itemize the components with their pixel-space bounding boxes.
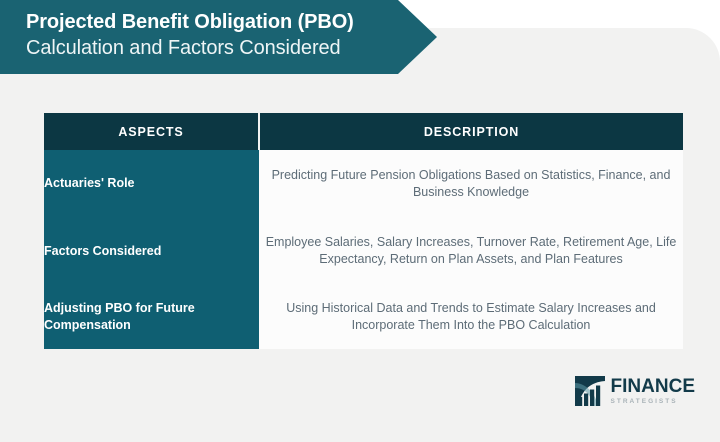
logo-text-block: FINANCE STRATEGISTS bbox=[611, 377, 695, 406]
title-line-1: Projected Benefit Obligation (PBO) bbox=[26, 9, 437, 35]
pbo-table: ASPECTS DESCRIPTION Actuaries' Role Pred… bbox=[44, 113, 683, 349]
infographic-canvas: Projected Benefit Obligation (PBO) Calcu… bbox=[0, 0, 720, 442]
column-header-description: DESCRIPTION bbox=[259, 113, 683, 150]
column-header-aspects: ASPECTS bbox=[44, 113, 259, 150]
cell-description: Predicting Future Pension Obligations Ba… bbox=[259, 150, 683, 217]
cell-description: Employee Salaries, Salary Increases, Tur… bbox=[259, 217, 683, 285]
brand-logo: FINANCE STRATEGISTS bbox=[575, 376, 695, 406]
cell-aspect: Actuaries' Role bbox=[44, 150, 259, 217]
logo-word: FINANCE bbox=[611, 377, 695, 396]
table-row: Actuaries' Role Predicting Future Pensio… bbox=[44, 150, 683, 217]
finance-strategists-bar-chart-mark bbox=[575, 376, 605, 406]
logo-subword: STRATEGISTS bbox=[611, 397, 695, 406]
table-row: Adjusting PBO for Future Compensation Us… bbox=[44, 285, 683, 349]
title-line-2: Calculation and Factors Considered bbox=[26, 35, 437, 61]
table-body: Actuaries' Role Predicting Future Pensio… bbox=[44, 150, 683, 349]
table-row: Factors Considered Employee Salaries, Sa… bbox=[44, 217, 683, 285]
cell-aspect: Adjusting PBO for Future Compensation bbox=[44, 285, 259, 349]
table-header-row: ASPECTS DESCRIPTION bbox=[44, 113, 683, 150]
table-header: ASPECTS DESCRIPTION bbox=[44, 113, 683, 150]
cell-description: Using Historical Data and Trends to Esti… bbox=[259, 285, 683, 349]
cell-aspect: Factors Considered bbox=[44, 217, 259, 285]
title-banner: Projected Benefit Obligation (PBO) Calcu… bbox=[0, 0, 437, 74]
